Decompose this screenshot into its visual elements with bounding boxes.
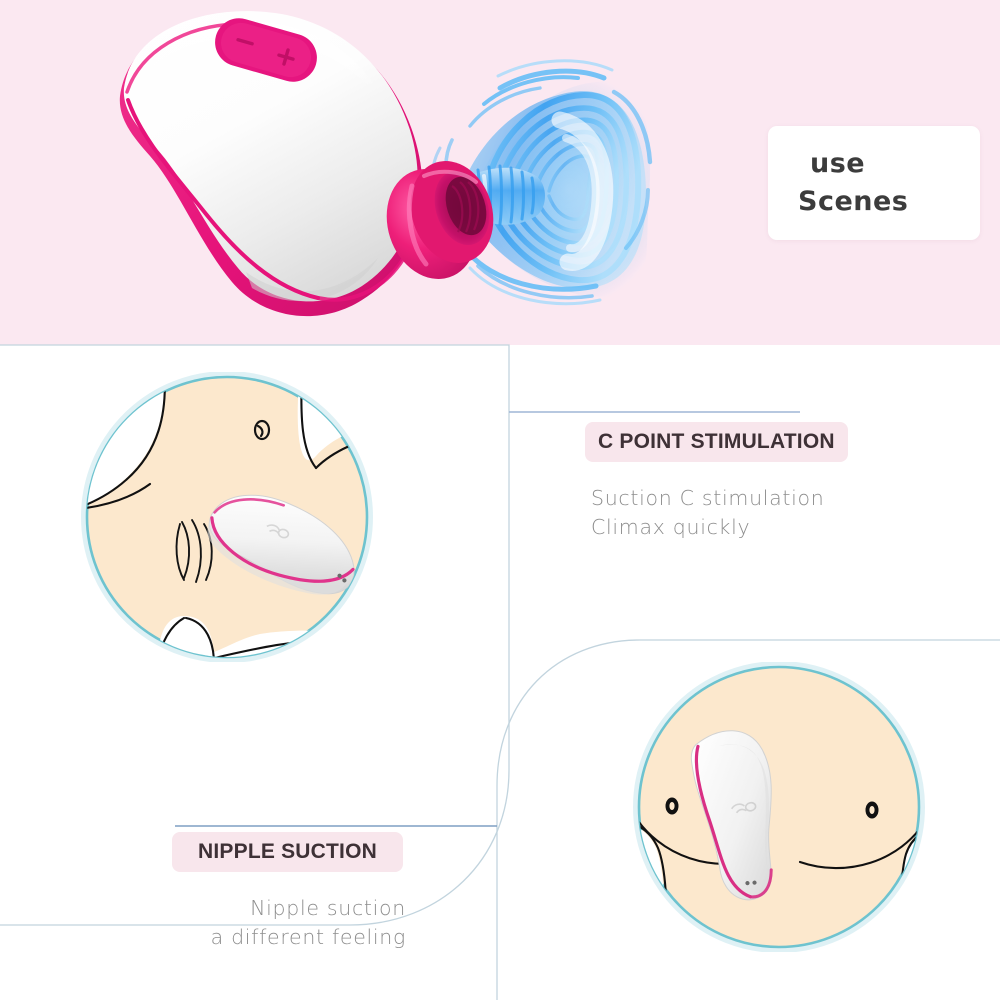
badge-c-point-stimulation: C POINT STIMULATION (585, 422, 848, 462)
hero-banner: use Scenes (0, 0, 1000, 345)
use-scenes-line-1: use (810, 148, 865, 180)
badge-nipple-suction: NIPPLE SUCTION (172, 832, 403, 872)
description-nipple-suction: Nipple suction a different feeling (150, 894, 406, 952)
use-scenes-line-2: Scenes (798, 186, 908, 218)
use-scenes-card: use Scenes (768, 126, 980, 240)
nipple-illustration (614, 662, 944, 952)
product-body-graphic (120, 11, 423, 316)
c-point-illustration (64, 372, 394, 662)
description-c-point: Suction C stimulation Climax quickly (591, 484, 825, 542)
infographic-page: use Scenes (0, 0, 1000, 1000)
